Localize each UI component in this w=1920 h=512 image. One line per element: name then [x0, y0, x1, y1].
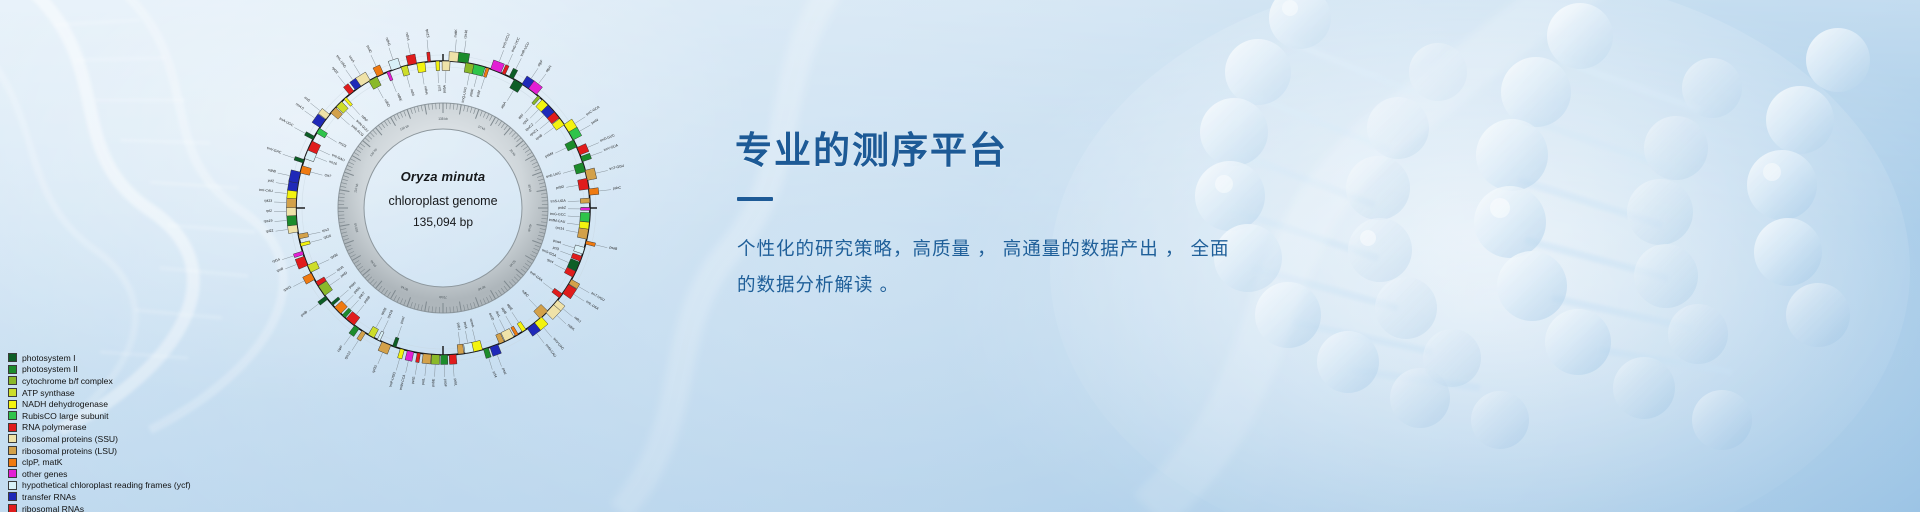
gene-label: psaI	[501, 367, 507, 375]
gene-feature-box	[431, 355, 440, 365]
gene-label: psbI	[476, 90, 482, 98]
legend-item-label: other genes	[22, 469, 67, 479]
gene-label: psaC	[366, 45, 373, 55]
legend-color-swatch	[8, 458, 17, 467]
gene-label: trnT-GGU	[609, 164, 625, 171]
gene-label: psbF	[443, 379, 447, 387]
gene-label: rpl23	[264, 199, 272, 203]
gene-label: trnE-UUC	[546, 171, 562, 179]
gene-label: psaB	[609, 245, 618, 251]
legend-item-label: photosystem II	[22, 364, 78, 374]
gene-label: psaA	[553, 239, 562, 245]
gene-label: matK	[453, 28, 458, 37]
gene-feature-box	[289, 170, 301, 183]
legend-item-label: photosystem I	[22, 353, 76, 363]
legend-item-label: ribosomal RNAs	[22, 504, 84, 512]
genome-circle-diagram: psbAmatKrps16trnQ-UUGpsbKpsbItrnS-GCUtrn…	[243, 8, 643, 408]
gene-feature-box	[398, 349, 405, 359]
gene-label: ndhH	[423, 86, 428, 95]
chloroplast-genome-map: psbAmatKrps16trnQ-UUGpsbKpsbItrnS-GCUtrn…	[243, 8, 643, 408]
gene-feature-box	[491, 60, 505, 73]
gene-label: rrn16	[328, 159, 337, 166]
legend-item-label: hypothetical chloroplast reading frames …	[22, 480, 191, 490]
gene-feature-box	[416, 353, 421, 363]
gene-label: trnW-CCA	[399, 373, 407, 390]
gene-feature-box	[580, 212, 590, 222]
gene-feature-box	[442, 61, 450, 71]
legend-color-swatch	[8, 376, 17, 385]
gene-label: accD	[488, 312, 495, 321]
gene-label: trnS-UGA	[551, 199, 567, 204]
gene-label: rps18	[386, 309, 393, 319]
legend-item: photosystem II	[8, 364, 191, 376]
gene-label: rps4	[546, 258, 554, 265]
gene-feature-box	[585, 241, 595, 247]
gene-label: rbcL	[495, 310, 502, 318]
legend-color-swatch	[8, 446, 17, 455]
gene-feature-box	[405, 351, 414, 362]
gene-label: clpP	[336, 344, 344, 352]
gene-label: rps2	[522, 118, 530, 126]
gene-feature-box	[300, 241, 310, 247]
gene-label: trnV-GAC	[266, 146, 282, 155]
gene-label: rrn23	[338, 141, 347, 149]
gene-label: trnfM-CAU	[549, 218, 566, 224]
legend-item: hypothetical chloroplast reading frames …	[8, 480, 191, 492]
legend-item-label: ribosomal proteins (LSU)	[22, 446, 117, 456]
gene-feature-box	[378, 342, 391, 355]
page-title: 专业的测序平台	[735, 130, 1355, 171]
gene-label: ycf2	[267, 178, 274, 183]
gene-label: ndhD	[383, 98, 391, 108]
gene-label: ndhJ	[573, 316, 582, 324]
gene-feature-box	[393, 337, 400, 347]
gene-feature-box	[287, 215, 297, 226]
gene-label: rps3	[322, 228, 330, 233]
gene-feature-box	[427, 52, 431, 62]
gene-label: rrn5	[303, 96, 310, 103]
gene-label: ndhK	[567, 323, 576, 332]
gene-label: trnG-UCC	[511, 36, 521, 52]
legend-item: cytochrome b/f complex	[8, 375, 191, 387]
gene-feature-box	[294, 156, 304, 162]
gene-label: trnP-UGG	[389, 371, 397, 387]
gene-label: rps14	[555, 225, 564, 231]
gene-label: psbL	[453, 378, 457, 386]
gene-feature-box	[457, 344, 464, 354]
banner-description: 个性化的研究策略，高质量 ， 高通量的数据产出 ， 全面 的数据分析解读 。	[737, 231, 1297, 302]
gene-label: rps15	[425, 29, 430, 38]
gene-label: cemA	[469, 318, 475, 328]
gene-label: rpl14	[272, 257, 281, 263]
gene-label: ndhI	[410, 89, 416, 97]
gene-label: trnT-UGU	[590, 291, 605, 302]
gene-label: petD	[340, 270, 349, 278]
legend-item-label: NADH dehydrogenase	[22, 399, 108, 409]
legend-item: ribosomal RNAs	[8, 503, 191, 512]
gene-label: trnA-UGC	[279, 117, 295, 128]
gene-label: rpl32	[331, 66, 339, 75]
gene-feature-box	[417, 62, 426, 73]
gene-feature-box	[449, 354, 457, 364]
gene-feature-box	[578, 178, 589, 190]
description-line-2: 的数据分析解读 。	[737, 267, 1297, 303]
sequencing-platform-banner: psbAmatKrps16trnQ-UUGpsbKpsbItrnS-GCUtrn…	[0, 0, 1920, 512]
gene-label: petB	[300, 310, 309, 318]
gene-label: psbK	[469, 87, 475, 96]
gene-feature-box	[287, 197, 297, 207]
gene-feature-box	[580, 198, 590, 203]
legend-color-swatch	[8, 411, 17, 420]
legend-color-swatch	[8, 481, 17, 490]
gene-label: atpB	[500, 307, 507, 316]
gene-label: ndhA	[405, 32, 411, 41]
gene-feature-box	[387, 71, 393, 81]
legend-color-swatch	[8, 400, 17, 409]
legend-color-swatch	[8, 388, 17, 397]
gene-label: atpA	[500, 100, 507, 109]
title-divider	[737, 197, 773, 201]
legend-item: RNA polymerase	[8, 422, 191, 434]
gene-label: trnR-UCU	[520, 41, 531, 57]
gene-label: petG	[411, 376, 416, 384]
gene-label: petL	[421, 378, 426, 385]
banner-copy: 专业的测序平台 个性化的研究策略，高质量 ， 高通量的数据产出 ， 全面 的数据…	[735, 130, 1355, 302]
gene-label: psbZ	[558, 206, 567, 210]
legend-item-label: ribosomal proteins (SSU)	[22, 434, 118, 444]
legend-color-swatch	[8, 434, 17, 443]
legend-color-swatch	[8, 365, 17, 374]
description-line-1: 个性化的研究策略，高质量 ， 高通量的数据产出 ， 全面	[737, 231, 1297, 267]
legend-item: RubisCO large subunit	[8, 410, 191, 422]
gene-feature-box	[401, 65, 409, 76]
genome-ruler-tick-label: 135 kb	[438, 117, 448, 121]
legend-item: transfer RNAs	[8, 491, 191, 503]
gene-label: rps19	[264, 219, 273, 224]
gene-label: atpF	[537, 59, 544, 67]
legend-color-swatch	[8, 469, 17, 478]
gene-label: trnG-GCC	[550, 212, 566, 217]
gene-label: atpH	[545, 64, 553, 73]
gene-feature-box	[293, 251, 303, 257]
gene-label: trnL-UAA	[585, 300, 600, 312]
gene-label: psaJ	[399, 316, 405, 325]
gene-label: psbD	[556, 185, 565, 190]
gene-feature-box	[441, 355, 448, 365]
legend-item: photosystem I	[8, 352, 191, 364]
gene-feature-box	[369, 77, 381, 90]
legend-color-swatch	[8, 504, 17, 512]
gene-feature-box	[436, 61, 440, 71]
gene-feature-box	[287, 207, 297, 216]
gene-category-legend: photosystem Iphotosystem IIcytochrome b/…	[8, 352, 191, 512]
legend-color-swatch	[8, 353, 17, 362]
legend-item-label: RubisCO large subunit	[22, 411, 108, 421]
legend-item: NADH dehydrogenase	[8, 398, 191, 410]
gene-label: rpoB	[535, 133, 544, 141]
gene-label: atpI	[517, 113, 524, 120]
gene-label: psbE	[431, 378, 435, 387]
legend-item: ribosomal proteins (SSU)	[8, 433, 191, 445]
legend-item: other genes	[8, 468, 191, 480]
gene-label: petA	[463, 321, 468, 329]
gene-label: trnY-GUA	[603, 143, 619, 152]
gene-label: psbA	[442, 84, 446, 93]
gene-label: ycf3	[552, 245, 559, 251]
gene-label: psbJ	[456, 322, 461, 330]
gene-feature-box	[458, 52, 470, 63]
gene-label: ndhE	[396, 93, 403, 103]
gene-label: ycf4	[492, 371, 498, 378]
gene-label: ccsA	[348, 55, 356, 64]
gene-label: rpl20	[380, 307, 387, 316]
gene-feature-box	[574, 245, 585, 254]
gene-feature-box	[406, 54, 417, 65]
gene-label: rpl2	[266, 209, 272, 213]
legend-color-swatch	[8, 492, 17, 501]
gene-label: rps11	[283, 285, 292, 293]
gene-feature-box	[464, 342, 474, 353]
gene-feature-box	[300, 166, 311, 176]
gene-label: atpE	[506, 303, 514, 312]
gene-label: trnD-GUC	[600, 133, 616, 143]
gene-label: trnQ-UUG	[461, 86, 468, 102]
gene-feature-box	[484, 348, 492, 359]
legend-item-label: clpP, matK	[22, 457, 62, 467]
gene-label: rps7	[324, 173, 332, 179]
gene-feature-box	[577, 228, 588, 239]
gene-label: rps12	[344, 350, 352, 360]
gene-label: trnM-CAU	[545, 343, 558, 358]
gene-label: trnI-CAU	[259, 188, 273, 193]
legend-item: clpP, matK	[8, 456, 191, 468]
gene-label: rrn4.5	[295, 102, 305, 111]
gene-label: rps8	[276, 267, 284, 273]
gene-label: ndhG	[385, 37, 392, 47]
gene-label: psbM	[544, 151, 554, 158]
gene-label: rpl36	[330, 253, 339, 260]
legend-item: ATP synthase	[8, 387, 191, 399]
gene-label: trnS-GCU	[502, 33, 511, 49]
gene-label: trnL-UAG	[335, 54, 347, 69]
gene-feature-box	[298, 232, 308, 238]
legend-item-label: RNA polymerase	[22, 422, 86, 432]
gene-label: trnF-GAA	[529, 270, 544, 282]
legend-color-swatch	[8, 423, 17, 432]
gene-label: psbB	[363, 295, 372, 304]
gene-feature-box	[581, 153, 592, 161]
gene-label: ycf1	[437, 85, 441, 92]
gene-label: rpl16	[323, 234, 332, 240]
gene-label: trnC-GCA	[585, 105, 601, 117]
gene-label: ndhC	[521, 289, 530, 298]
gene-label: psbC	[613, 186, 622, 191]
legend-item-label: ATP synthase	[22, 388, 75, 398]
gene-label: ndhB	[267, 168, 276, 174]
gene-feature-box	[344, 97, 352, 106]
gene-feature-box	[589, 188, 599, 195]
gene-feature-box	[295, 256, 307, 269]
gene-label: trnV-UAC	[552, 337, 565, 351]
gene-label: rpl22	[265, 228, 273, 233]
legend-item-label: transfer RNAs	[22, 492, 76, 502]
gene-label: rps16	[463, 29, 468, 38]
gene-feature-box	[422, 354, 431, 364]
genome-ruler-tick-label: 70 kb	[439, 295, 447, 299]
legend-item: ribosomal proteins (LSU)	[8, 445, 191, 457]
gene-feature-box	[580, 208, 590, 211]
gene-label: rpl33	[371, 365, 378, 374]
gene-label: petN	[591, 118, 600, 125]
legend-item-label: cytochrome b/f complex	[22, 376, 113, 386]
